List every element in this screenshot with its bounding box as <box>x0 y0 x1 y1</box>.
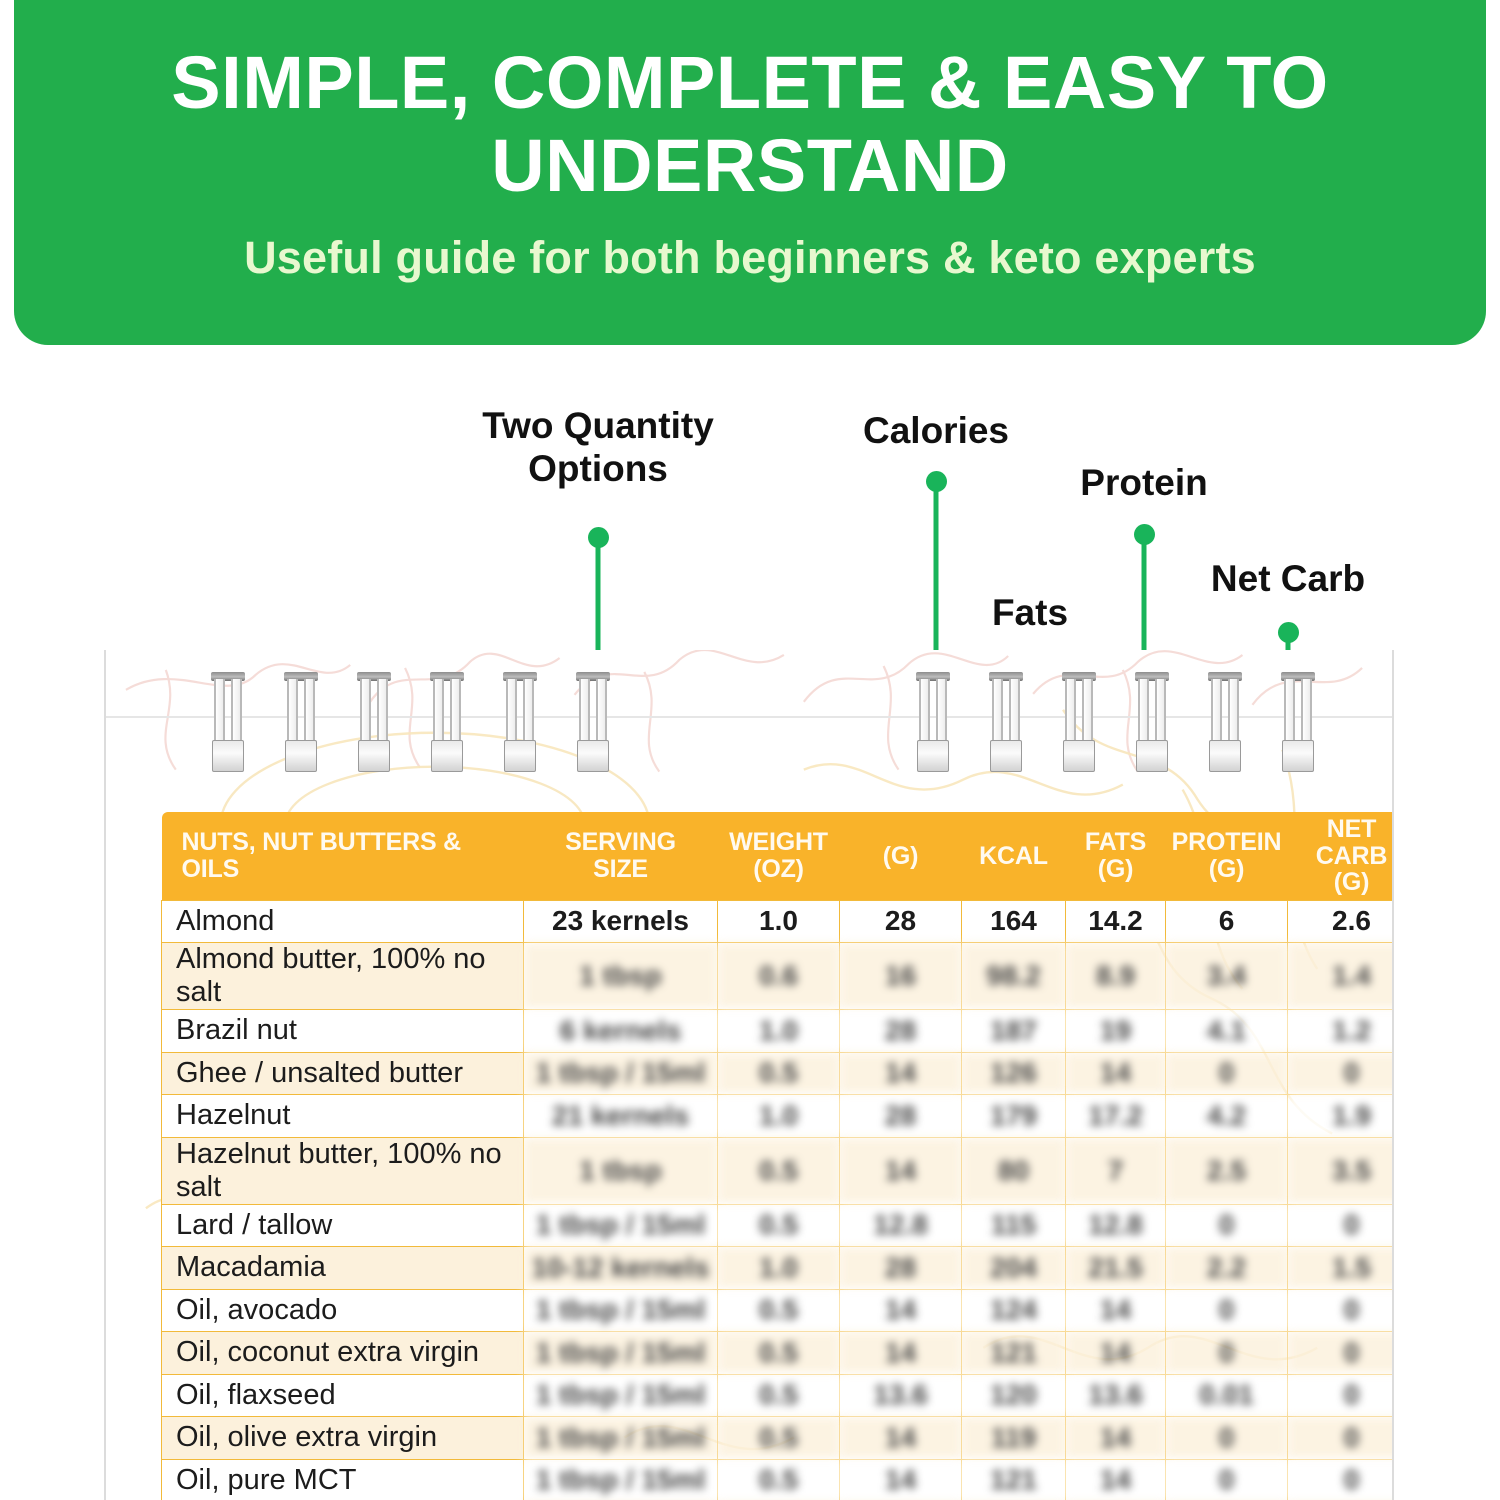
callout-label-protein: Protein <box>1080 462 1207 505</box>
cell-serving: 1 tbsp / 15ml <box>524 1417 718 1460</box>
cell-oz: 0.5 <box>718 1052 840 1095</box>
spiral-ring <box>989 672 1023 772</box>
spiral-ring-cap-bottom <box>1136 740 1168 772</box>
spiral-ring-cap-bottom <box>1063 740 1095 772</box>
cell-food-name: Macadamia <box>162 1247 524 1290</box>
spiral-ring-cap-bottom <box>577 740 609 772</box>
cell-g: 14 <box>840 1332 962 1375</box>
column-header-serving-size: SERVING SIZE <box>524 812 718 900</box>
poster-root: SIMPLE, COMPLETE & EASY TO UNDERSTAND Us… <box>0 0 1500 1500</box>
cell-fats: 19 <box>1066 1010 1166 1053</box>
cell-serving: 1 tbsp / 15ml <box>524 1332 718 1375</box>
cell-food-name: Lard / tallow <box>162 1204 524 1247</box>
column-header-serving-size-line2: SIZE <box>526 856 716 883</box>
table-row: Oil, olive extra virgin1 tbsp / 15ml0.51… <box>162 1417 1395 1460</box>
cell-kcal: 164 <box>962 900 1066 943</box>
cell-serving: 23 kernels <box>524 900 718 943</box>
table-header-row: NUTS, NUT BUTTERS & OILS SERVING SIZE WE… <box>162 812 1395 900</box>
cell-fats: 14 <box>1066 1332 1166 1375</box>
cell-netcarb: 0 <box>1288 1332 1395 1375</box>
cell-g: 16 <box>840 943 962 1010</box>
cell-protein: 0 <box>1166 1417 1288 1460</box>
table-row: Almond23 kernels1.02816414.262.6 <box>162 900 1395 943</box>
cell-netcarb: 0 <box>1288 1374 1395 1417</box>
cell-protein: 0 <box>1166 1459 1288 1500</box>
banner-subtitle: Useful guide for both beginners & keto e… <box>244 232 1256 284</box>
cell-fats: 12.8 <box>1066 1204 1166 1247</box>
cell-protein: 2.5 <box>1166 1137 1288 1204</box>
spiral-ring <box>211 672 245 772</box>
spiral-ring <box>576 672 610 772</box>
table-row: Macadamia10-12 kernels1.02820421.52.21.5 <box>162 1247 1395 1290</box>
column-header-net-carb-unit: (G) <box>1290 869 1395 896</box>
cell-kcal: 80 <box>962 1137 1066 1204</box>
column-header-weight-g-unit: (G) <box>842 843 960 870</box>
cell-serving: 1 tbsp / 15ml <box>524 1289 718 1332</box>
column-header-net-carb-label: NET CARB <box>1316 815 1387 870</box>
cell-oz: 0.5 <box>718 1204 840 1247</box>
column-header-fats-unit: (G) <box>1068 856 1164 883</box>
cell-kcal: 121 <box>962 1332 1066 1375</box>
cell-fats: 17.2 <box>1066 1095 1166 1138</box>
spiral-ring-cap-bottom <box>431 740 463 772</box>
cell-protein: 0.01 <box>1166 1374 1288 1417</box>
cell-fats: 14 <box>1066 1289 1166 1332</box>
cell-food-name: Oil, pure MCT <box>162 1459 524 1500</box>
cell-g: 14 <box>840 1417 962 1460</box>
spiral-ring <box>284 672 318 772</box>
cell-serving: 1 tbsp <box>524 1137 718 1204</box>
cell-kcal: 115 <box>962 1204 1066 1247</box>
callout-label-two-quantity-options: Two Quantity Options <box>482 405 714 491</box>
spiral-ring-cap-bottom <box>358 740 390 772</box>
cell-g: 14 <box>840 1137 962 1204</box>
table-row: Lard / tallow1 tbsp / 15ml0.512.811512.8… <box>162 1204 1395 1247</box>
cell-netcarb: 1.4 <box>1288 943 1395 1010</box>
table-row: Oil, avocado1 tbsp / 15ml0.5141241400 <box>162 1289 1395 1332</box>
table-row: Oil, flaxseed1 tbsp / 15ml0.513.612013.6… <box>162 1374 1395 1417</box>
cell-oz: 1.0 <box>718 1010 840 1053</box>
cell-oz: 0.5 <box>718 1137 840 1204</box>
table-row: Oil, pure MCT1 tbsp / 15ml0.5141211400 <box>162 1459 1395 1500</box>
column-header-net-carb: NET CARB (G) <box>1288 812 1395 900</box>
banner-title: SIMPLE, COMPLETE & EASY TO UNDERSTAND <box>150 42 1350 208</box>
callout-label-net-carb: Net Carb <box>1211 558 1365 601</box>
header-banner: SIMPLE, COMPLETE & EASY TO UNDERSTAND Us… <box>14 0 1486 345</box>
spiral-ring <box>357 672 391 772</box>
column-header-weight-oz-unit: (OZ) <box>720 856 838 883</box>
cell-food-name: Hazelnut <box>162 1095 524 1138</box>
cell-kcal: 179 <box>962 1095 1066 1138</box>
cell-g: 14 <box>840 1052 962 1095</box>
cell-serving: 10-12 kernels <box>524 1247 718 1290</box>
spiral-ring-cap-bottom <box>917 740 949 772</box>
cell-kcal: 204 <box>962 1247 1066 1290</box>
cell-food-name: Oil, flaxseed <box>162 1374 524 1417</box>
cell-fats: 14 <box>1066 1417 1166 1460</box>
cell-protein: 2.2 <box>1166 1247 1288 1290</box>
spiral-ring <box>1062 672 1096 772</box>
nutrition-table: NUTS, NUT BUTTERS & OILS SERVING SIZE WE… <box>161 812 1394 1500</box>
column-header-serving-size-line1: SERVING <box>565 828 676 856</box>
cell-oz: 0.5 <box>718 1374 840 1417</box>
table-row: Hazelnut butter, 100% no salt1 tbsp0.514… <box>162 1137 1395 1204</box>
table-row: Almond butter, 100% no salt1 tbsp0.61698… <box>162 943 1395 1010</box>
cell-fats: 8.9 <box>1066 943 1166 1010</box>
cell-netcarb: 0 <box>1288 1289 1395 1332</box>
table-row: Hazelnut21 kernels1.02817917.24.21.9 <box>162 1095 1395 1138</box>
cell-netcarb: 0 <box>1288 1204 1395 1247</box>
cell-fats: 14 <box>1066 1052 1166 1095</box>
column-header-fats: FATS (G) <box>1066 812 1166 900</box>
cell-serving: 1 tbsp / 15ml <box>524 1374 718 1417</box>
cell-protein: 3.4 <box>1166 943 1288 1010</box>
spiral-ring-cap-bottom <box>285 740 317 772</box>
cell-g: 13.6 <box>840 1374 962 1417</box>
cell-netcarb: 3.5 <box>1288 1137 1395 1204</box>
cell-kcal: 187 <box>962 1010 1066 1053</box>
cell-fats: 13.6 <box>1066 1374 1166 1417</box>
column-header-kcal: KCAL <box>962 812 1066 900</box>
spiral-ring-cap-bottom <box>990 740 1022 772</box>
cell-serving: 1 tbsp / 15ml <box>524 1052 718 1095</box>
column-header-protein: PROTEIN (G) <box>1166 812 1288 900</box>
cell-kcal: 120 <box>962 1374 1066 1417</box>
cell-protein: 4.1 <box>1166 1010 1288 1053</box>
cell-fats: 14.2 <box>1066 900 1166 943</box>
cell-serving: 1 tbsp / 15ml <box>524 1204 718 1247</box>
cell-kcal: 124 <box>962 1289 1066 1332</box>
cell-oz: 0.5 <box>718 1417 840 1460</box>
cell-netcarb: 1.2 <box>1288 1010 1395 1053</box>
cell-kcal: 121 <box>962 1459 1066 1500</box>
cell-food-name: Brazil nut <box>162 1010 524 1053</box>
cell-netcarb: 1.9 <box>1288 1095 1395 1138</box>
column-header-fats-label: FATS <box>1085 828 1146 856</box>
cell-kcal: 119 <box>962 1417 1066 1460</box>
cell-serving: 1 tbsp / 15ml <box>524 1459 718 1500</box>
spiral-ring <box>1135 672 1169 772</box>
cell-oz: 0.5 <box>718 1459 840 1500</box>
spiral-ring <box>916 672 950 772</box>
cell-g: 28 <box>840 1247 962 1290</box>
cell-fats: 14 <box>1066 1459 1166 1500</box>
table-row: Oil, coconut extra virgin1 tbsp / 15ml0.… <box>162 1332 1395 1375</box>
callout-label-calories: Calories <box>863 410 1009 453</box>
cell-oz: 1.0 <box>718 1247 840 1290</box>
cell-protein: 4.2 <box>1166 1095 1288 1138</box>
table-body: Almond23 kernels1.02816414.262.6Almond b… <box>162 900 1395 1500</box>
cell-food-name: Ghee / unsalted butter <box>162 1052 524 1095</box>
cell-food-name: Almond butter, 100% no salt <box>162 943 524 1010</box>
spiral-ring <box>1281 672 1315 772</box>
table-row: Brazil nut6 kernels1.028187194.11.2 <box>162 1010 1395 1053</box>
cell-food-name: Oil, coconut extra virgin <box>162 1332 524 1375</box>
cell-fats: 7 <box>1066 1137 1166 1204</box>
cell-g: 12.8 <box>840 1204 962 1247</box>
spiral-bound-sheet: NUTS, NUT BUTTERS & OILS SERVING SIZE WE… <box>104 650 1394 1500</box>
cell-oz: 1.0 <box>718 900 840 943</box>
spiral-ring <box>430 672 464 772</box>
cell-oz: 0.6 <box>718 943 840 1010</box>
cell-netcarb: 0 <box>1288 1052 1395 1095</box>
callout-label-fats: Fats <box>992 592 1068 635</box>
column-header-weight-g: (G) <box>840 812 962 900</box>
spiral-ring-cap-bottom <box>504 740 536 772</box>
cell-protein: 0 <box>1166 1289 1288 1332</box>
cell-kcal: 126 <box>962 1052 1066 1095</box>
spiral-ring <box>503 672 537 772</box>
cell-kcal: 98.2 <box>962 943 1066 1010</box>
cell-serving: 6 kernels <box>524 1010 718 1053</box>
spiral-ring-cap-bottom <box>212 740 244 772</box>
cell-oz: 0.5 <box>718 1332 840 1375</box>
cell-food-name: Oil, avocado <box>162 1289 524 1332</box>
cell-serving: 21 kernels <box>524 1095 718 1138</box>
cell-food-name: Oil, olive extra virgin <box>162 1417 524 1460</box>
column-header-food: NUTS, NUT BUTTERS & OILS <box>162 812 524 900</box>
cell-netcarb: 0 <box>1288 1417 1395 1460</box>
cell-serving: 1 tbsp <box>524 943 718 1010</box>
column-header-protein-unit: (G) <box>1168 856 1286 883</box>
cell-g: 14 <box>840 1289 962 1332</box>
column-header-weight-label: WEIGHT <box>729 828 828 856</box>
cell-protein: 6 <box>1166 900 1288 943</box>
cell-g: 28 <box>840 1095 962 1138</box>
cell-protein: 0 <box>1166 1204 1288 1247</box>
cell-food-name: Hazelnut butter, 100% no salt <box>162 1137 524 1204</box>
cell-oz: 1.0 <box>718 1095 840 1138</box>
cell-netcarb: 0 <box>1288 1459 1395 1500</box>
spiral-ring <box>1208 672 1242 772</box>
cell-g: 28 <box>840 1010 962 1053</box>
cell-g: 28 <box>840 900 962 943</box>
cell-netcarb: 1.5 <box>1288 1247 1395 1290</box>
cell-netcarb: 2.6 <box>1288 900 1395 943</box>
table-row: Ghee / unsalted butter1 tbsp / 15ml0.514… <box>162 1052 1395 1095</box>
spiral-ring-cap-bottom <box>1209 740 1241 772</box>
column-header-protein-label: PROTEIN <box>1172 828 1282 856</box>
cell-protein: 0 <box>1166 1332 1288 1375</box>
cell-fats: 21.5 <box>1066 1247 1166 1290</box>
spiral-ring-cap-bottom <box>1282 740 1314 772</box>
cell-g: 14 <box>840 1459 962 1500</box>
cell-food-name: Almond <box>162 900 524 943</box>
column-header-weight-oz: WEIGHT (OZ) <box>718 812 840 900</box>
cell-oz: 0.5 <box>718 1289 840 1332</box>
cell-protein: 0 <box>1166 1052 1288 1095</box>
